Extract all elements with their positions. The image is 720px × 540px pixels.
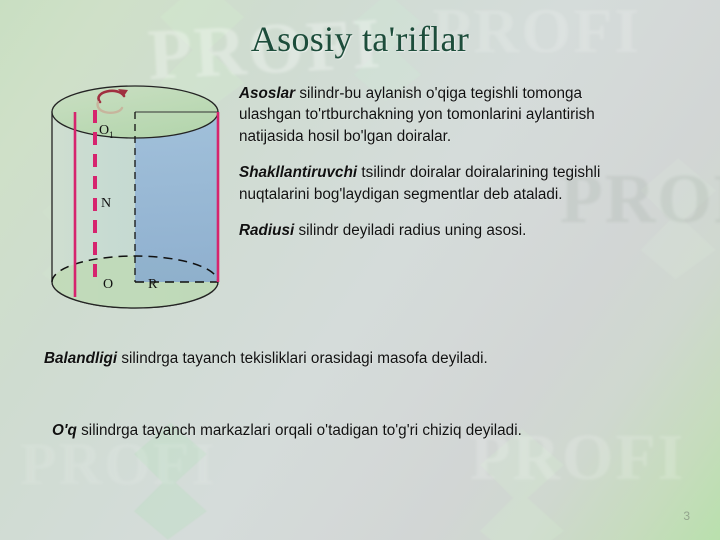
definition-paragraph: Radiusi silindr deyiladi radius uning as…: [239, 220, 631, 241]
cylinder-diagram: O1 N O R: [40, 82, 235, 317]
definition-paragraph: Shakllantiruvchi tsilindr doiralar doira…: [239, 162, 631, 205]
definition-term: Shakllantiruvchi: [239, 164, 357, 181]
label-radius: R: [148, 277, 158, 292]
definition-body: silindrga tayanch markazlari orqali o'ta…: [77, 422, 522, 439]
definition-body: silindr deyiladi radius uning asosi.: [294, 222, 526, 239]
definition-paragraph: Asoslar silindr-bu aylanish o'qiga tegis…: [239, 83, 631, 147]
definitions-text-column: Asoslar silindr-bu aylanish o'qiga tegis…: [239, 83, 631, 256]
slide-root: PROFI PROFI PROFI PROFI PROFI Asosiy ta'…: [0, 0, 720, 540]
definition-body: silindrga tayanch tekisliklari orasidagi…: [117, 350, 488, 367]
definition-paragraph-wide: Balandligi silindrga tayanch tekisliklar…: [44, 348, 488, 369]
page-title: Asosiy ta'riflar: [0, 18, 720, 60]
definition-term: O'q: [52, 422, 77, 439]
definition-term: Asoslar: [239, 85, 295, 102]
label-axis-n: N: [101, 196, 111, 211]
definition-term: Balandligi: [44, 350, 117, 367]
definition-paragraph-wide: O'q silindrga tayanch markazlari orqali …: [52, 420, 522, 441]
label-bottom-center: O: [103, 277, 113, 292]
definition-term: Radiusi: [239, 222, 294, 239]
page-number: 3: [683, 509, 690, 523]
